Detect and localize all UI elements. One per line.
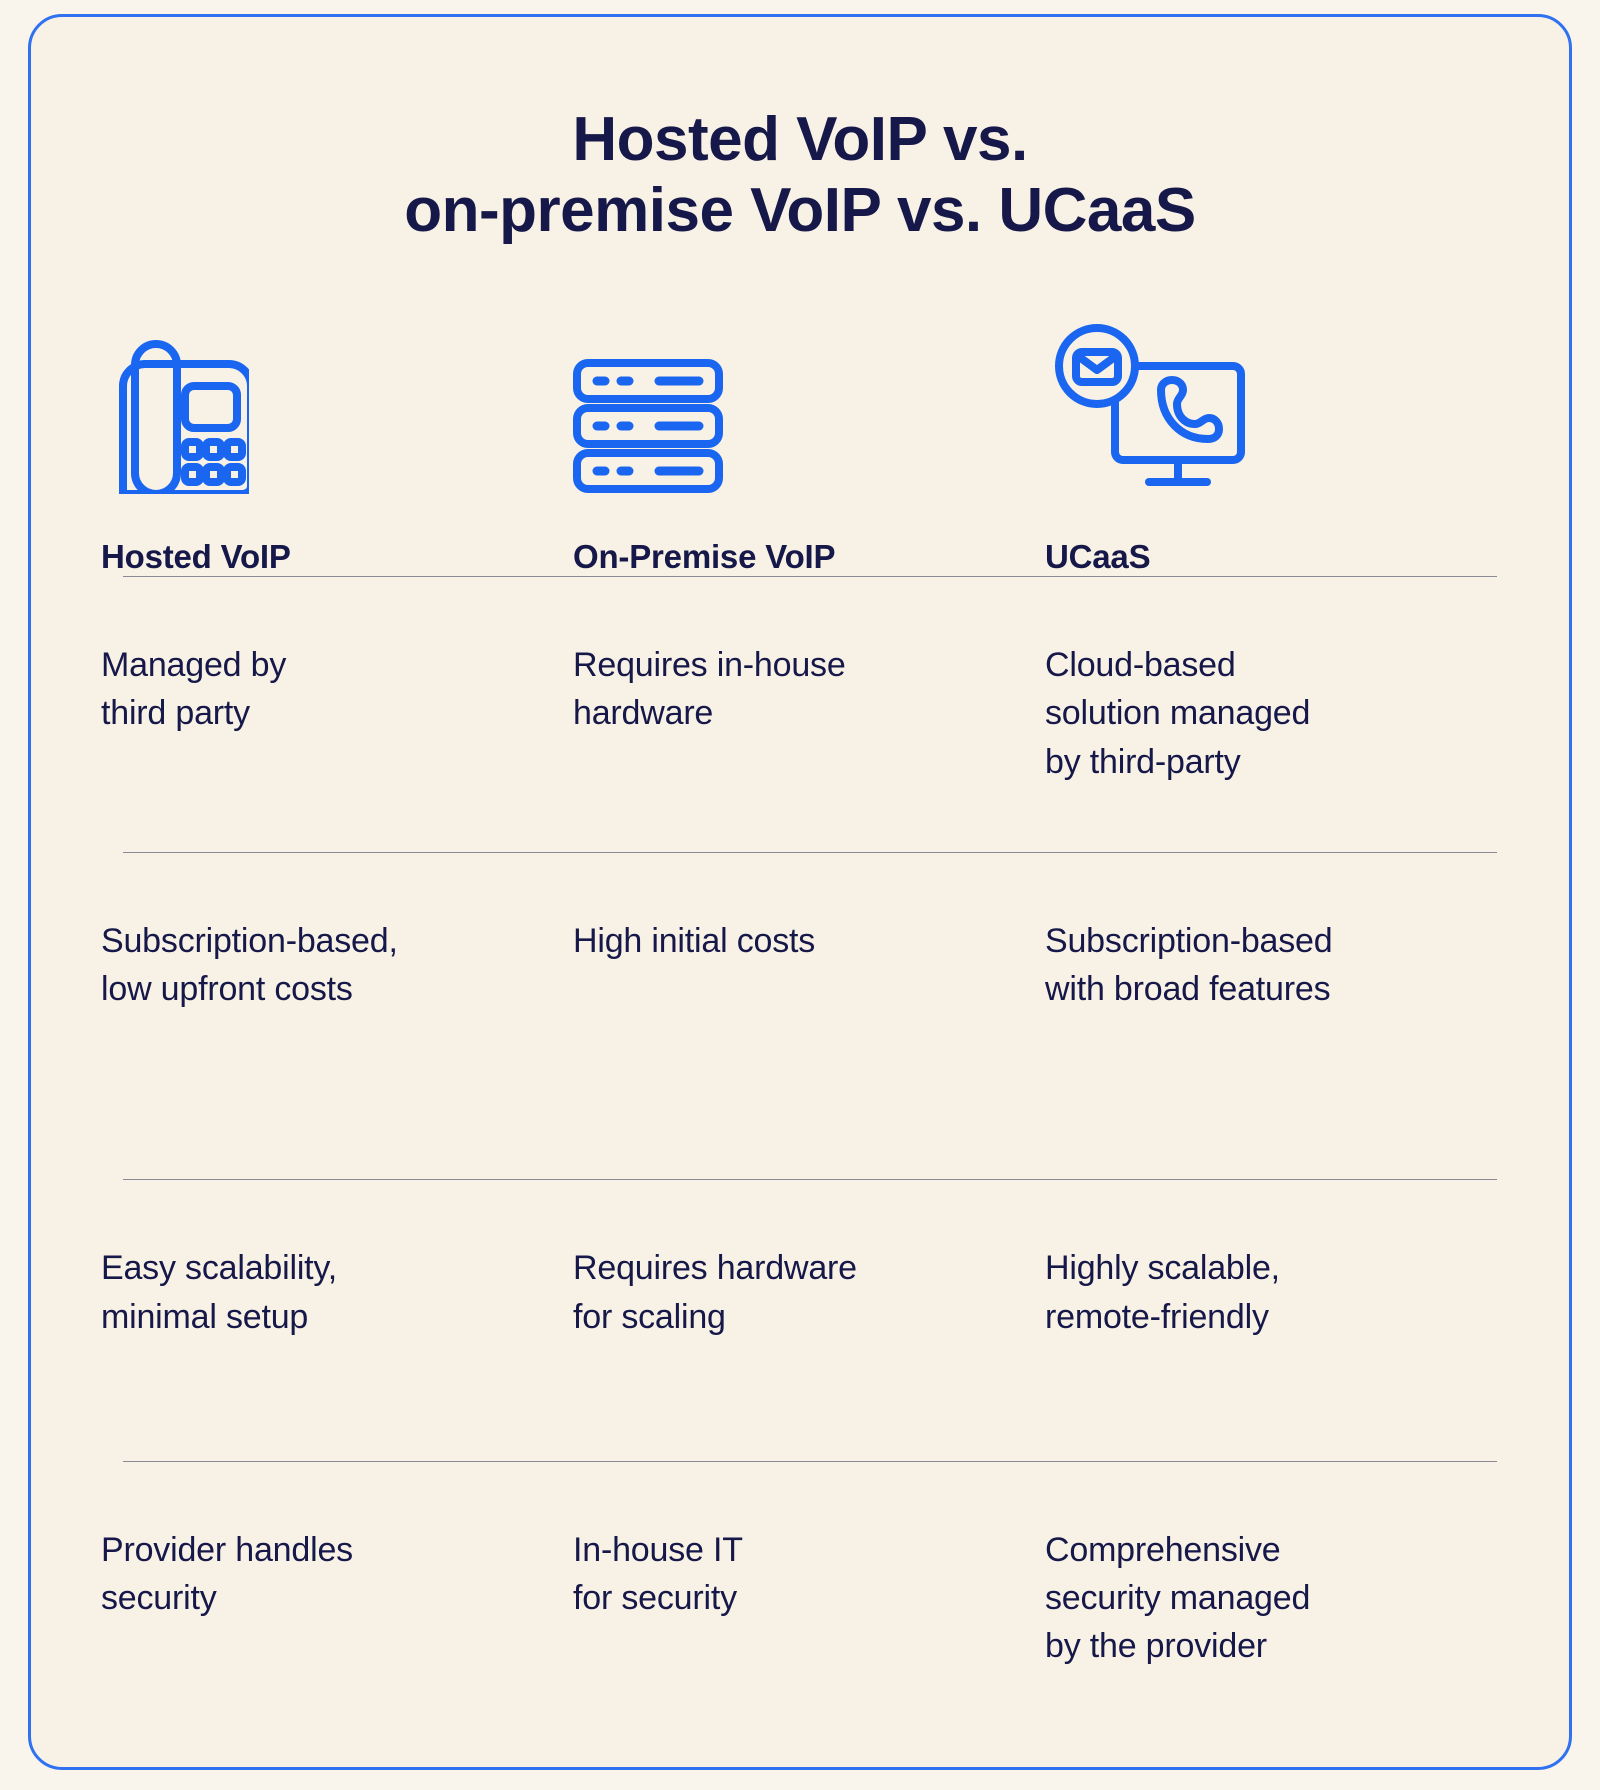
table-cell: Subscription-based with broad features xyxy=(1045,917,1485,1014)
header-label: Hosted VoIP xyxy=(101,538,573,576)
cell-text: Provider handles security xyxy=(101,1526,533,1623)
desk-phone-icon xyxy=(101,334,249,494)
column-header-hosted-voip: Hosted VoIP xyxy=(101,494,573,576)
header-label: On-Premise VoIP xyxy=(573,538,1045,576)
column-icon-on-premise-voip xyxy=(573,314,1045,494)
cell-text: Easy scalability, minimal setup xyxy=(101,1244,533,1341)
table-cell: Subscription-based, low upfront costs xyxy=(101,917,573,1014)
column-header-ucaas: UCaaS xyxy=(1045,494,1485,576)
header-row: Hosted VoIP On-Premise VoIP UCaaS xyxy=(101,494,1501,576)
cell-text: Requires in-house hardware xyxy=(573,641,1005,738)
cell-text: Subscription-based with broad features xyxy=(1045,917,1485,1014)
table-cell: High initial costs xyxy=(573,917,1045,1014)
table-cell: Highly scalable, remote-friendly xyxy=(1045,1244,1485,1341)
cell-text: Requires hardware for scaling xyxy=(573,1244,1005,1341)
cell-text: Managed by third party xyxy=(101,641,533,738)
cell-text: High initial costs xyxy=(573,917,1005,965)
cell-text: In-house IT for security xyxy=(573,1526,1005,1623)
column-icon-ucaas xyxy=(1045,314,1485,494)
server-rack-icon xyxy=(573,359,723,494)
page-title: Hosted VoIP vs. on-premise VoIP vs. UCaa… xyxy=(31,17,1569,246)
cell-text: Cloud-based solution managed by third-pa… xyxy=(1045,641,1485,786)
table-cell: Managed by third party xyxy=(101,641,573,786)
table-row: Managed by third party Requires in-house… xyxy=(101,577,1501,852)
title-line-1: Hosted VoIP vs. xyxy=(31,105,1569,176)
comparison-card: Hosted VoIP vs. on-premise VoIP vs. UCaa… xyxy=(28,14,1572,1770)
table-cell: Comprehensive security managed by the pr… xyxy=(1045,1526,1485,1671)
column-header-on-premise-voip: On-Premise VoIP xyxy=(573,494,1045,576)
cell-text: Highly scalable, remote-friendly xyxy=(1045,1244,1485,1341)
table-row: Subscription-based, low upfront costs Hi… xyxy=(101,853,1501,1180)
table-cell: Requires in-house hardware xyxy=(573,641,1045,786)
unified-communications-monitor-icon xyxy=(1045,324,1245,494)
table-cell: Provider handles security xyxy=(101,1526,573,1671)
table-row: Provider handles security In-house IT fo… xyxy=(101,1462,1501,1671)
icon-row xyxy=(101,314,1501,494)
column-icon-hosted-voip xyxy=(101,314,573,494)
table-cell: In-house IT for security xyxy=(573,1526,1045,1671)
cell-text: Subscription-based, low upfront costs xyxy=(101,917,533,1014)
cell-text: Comprehensive security managed by the pr… xyxy=(1045,1526,1485,1671)
comparison-grid: Hosted VoIP On-Premise VoIP UCaaS Manage… xyxy=(101,314,1501,1671)
header-label: UCaaS xyxy=(1045,538,1485,576)
title-line-2: on-premise VoIP vs. UCaaS xyxy=(31,176,1569,247)
table-row: Easy scalability, minimal setup Requires… xyxy=(101,1180,1501,1461)
table-cell: Cloud-based solution managed by third-pa… xyxy=(1045,641,1485,786)
table-cell: Requires hardware for scaling xyxy=(573,1244,1045,1341)
table-cell: Easy scalability, minimal setup xyxy=(101,1244,573,1341)
